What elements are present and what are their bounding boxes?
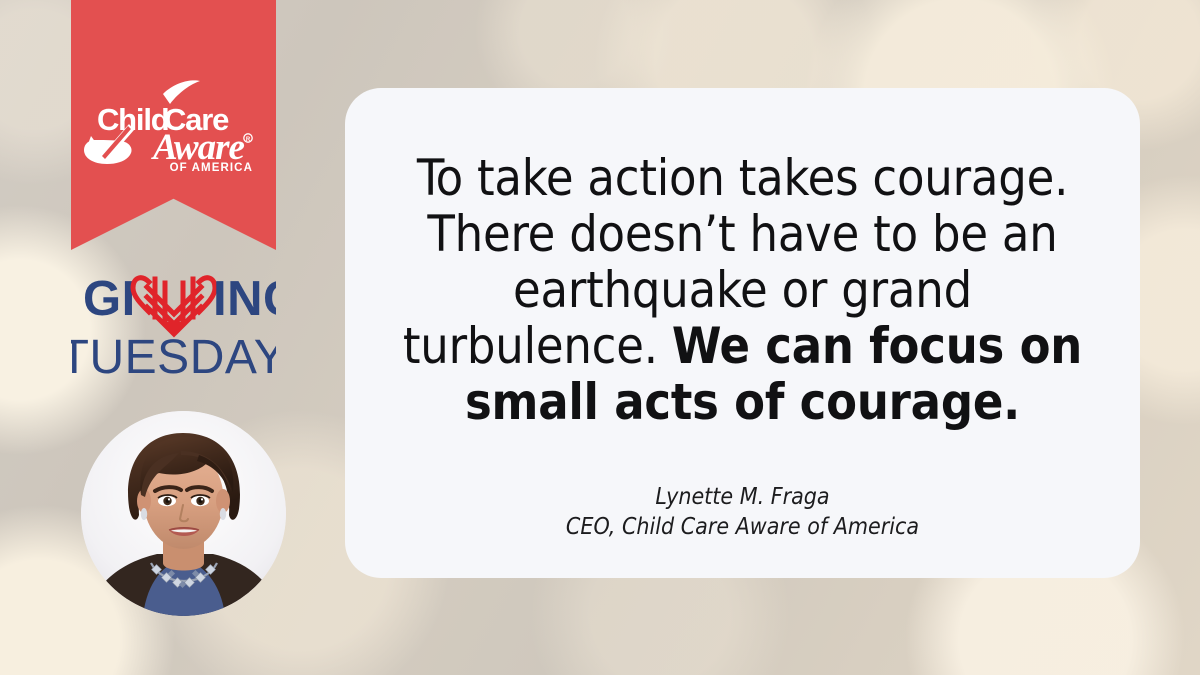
svg-text:TUESDAY: TUESDAY (71, 331, 276, 380)
quote-card: To take action takes courage. There does… (345, 88, 1140, 578)
attribution-title: CEO, Child Care Aware of America (393, 512, 1092, 542)
child-care-aware-logo: Child Care Aware R OF AMERICA (71, 78, 276, 173)
svg-text:GI: GI (83, 272, 136, 326)
quote-text: To take action takes courage. There does… (393, 150, 1092, 430)
social-quote-graphic: Child Care Aware R OF AMERICA GI ING TUE… (0, 0, 1200, 675)
quote-attribution: Lynette M. Fraga CEO, Child Care Aware o… (393, 482, 1092, 542)
lynette-fraga-portrait (81, 411, 286, 616)
brand-ribbon-banner: Child Care Aware R OF AMERICA (71, 0, 276, 250)
giving-tuesday-logo: GI ING TUESDAY (71, 265, 276, 380)
svg-text:R: R (246, 137, 251, 143)
svg-text:OF AMERICA: OF AMERICA (170, 162, 253, 173)
attribution-name: Lynette M. Fraga (393, 482, 1092, 512)
svg-text:ING: ING (213, 272, 276, 326)
